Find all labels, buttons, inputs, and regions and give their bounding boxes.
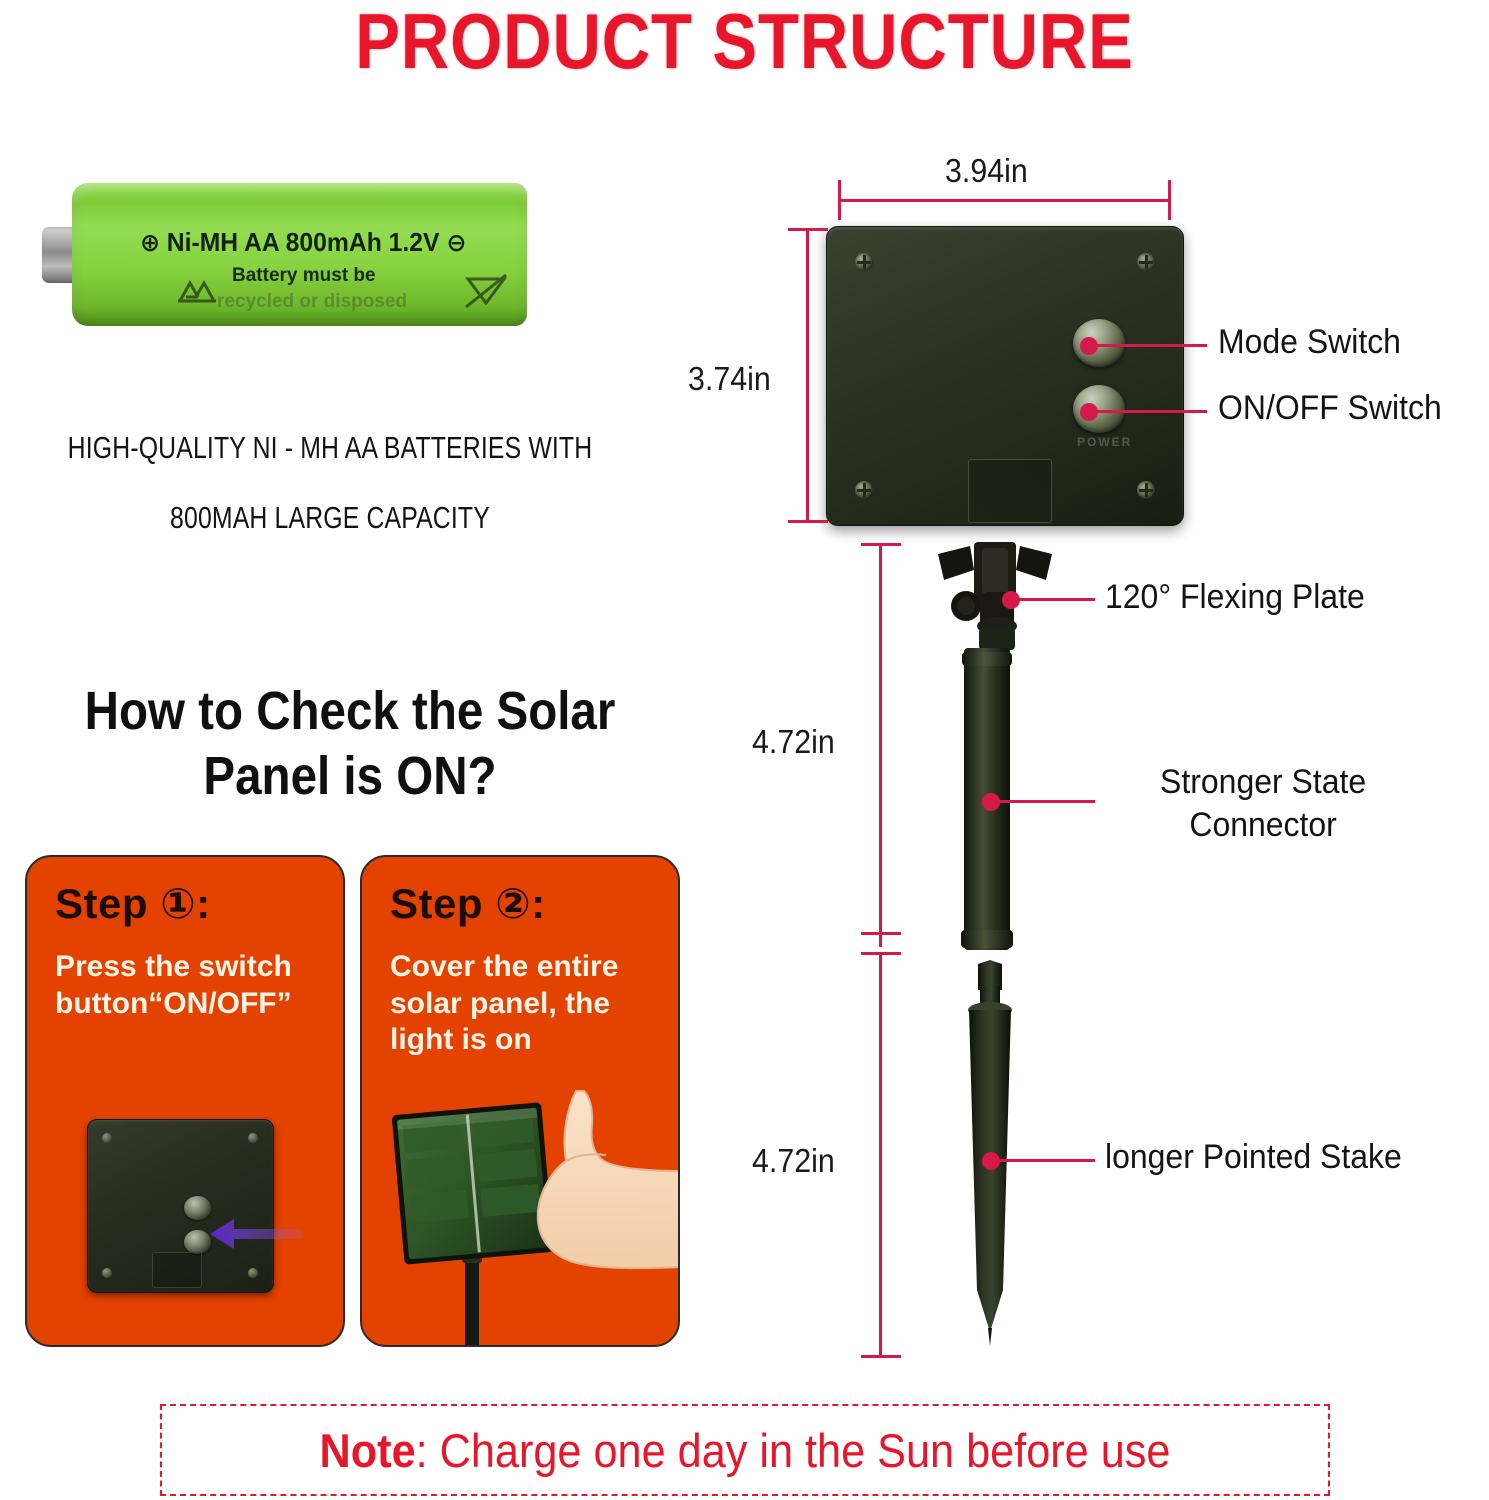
- step-1-body: Press the switch button“ON/OFF”: [55, 949, 335, 1022]
- step-2-body: Cover the entire solar panel, the light …: [390, 949, 670, 1059]
- dim-cap: [861, 543, 901, 546]
- minus-icon: ⊖: [446, 229, 466, 257]
- callout-state-connector-line-2: Connector: [1108, 805, 1418, 845]
- mini-power-button: [184, 1230, 211, 1254]
- callout-flexing-plate: 120° Flexing Plate: [1105, 577, 1365, 617]
- mini-battery-slot: [152, 1252, 202, 1288]
- screw-icon: [855, 253, 873, 271]
- dim-line-panel-width: [838, 199, 1170, 202]
- battery-recycle-line-2: recycled or disposed: [217, 291, 407, 313]
- step-2-title: Step ②:: [390, 879, 546, 928]
- mini-panel-back: [87, 1119, 274, 1293]
- power-label: POWER: [1077, 435, 1132, 449]
- dim-cap: [861, 952, 901, 955]
- step-1-title: Step ①:: [55, 879, 211, 928]
- screw-icon: [1137, 481, 1155, 499]
- dim-line-pole: [879, 543, 882, 947]
- purple-arrow-icon: [208, 1217, 303, 1251]
- battery-recycle-line-1: Battery must be: [232, 265, 376, 287]
- pole-ring-top: [962, 652, 1012, 666]
- page-title: PRODUCT STRUCTURE: [104, 0, 1385, 87]
- no-dispose-icon: [462, 271, 510, 311]
- dim-label-stake: 4.72in: [752, 1142, 835, 1180]
- battery-caption-line-1: HIGH-QUALITY NI - MH AA BATTERIES WITH: [66, 430, 594, 466]
- callout-line-flexing-plate: [1011, 598, 1095, 601]
- screw-icon: [855, 481, 873, 499]
- dim-line-stake: [879, 952, 882, 1358]
- note-body: : Charge one day in the Sun before use: [416, 1423, 1171, 1478]
- battery-caption-line-2: 800MAH LARGE CAPACITY: [66, 500, 594, 536]
- dim-cap: [861, 1355, 901, 1358]
- step-card-1: Step ①: Press the switch button“ON/OFF”: [25, 855, 345, 1347]
- callout-line-pointed-stake: [991, 1159, 1095, 1162]
- solar-panel-back-diagram: POWER: [826, 226, 1184, 526]
- pole-ring-bottom: [961, 930, 1013, 948]
- battery-spec-line: ⊕ Ni-MH AA 800mAh 1.2V ⊖: [140, 227, 501, 258]
- callout-line-mode-switch: [1089, 344, 1207, 347]
- battery-body: ⊕ Ni-MH AA 800mAh 1.2V ⊖ Battery must be…: [72, 183, 527, 326]
- screw-icon: [248, 1268, 258, 1278]
- screw-icon: [248, 1133, 258, 1143]
- dim-cap: [788, 228, 828, 231]
- screw-icon: [102, 1268, 112, 1278]
- flexing-plate-diagram: [930, 540, 1060, 650]
- dim-cap: [788, 520, 828, 523]
- screw-icon: [102, 1133, 112, 1143]
- battery-compartment: [968, 459, 1052, 523]
- dim-cap: [838, 180, 841, 220]
- dim-line-panel-height: [806, 228, 809, 523]
- dim-label-pole: 4.72in: [752, 723, 835, 761]
- callout-line-state-connector: [991, 800, 1095, 803]
- dim-label-panel-width: 3.94in: [945, 152, 1028, 190]
- recycle-icon: [172, 271, 222, 309]
- callout-state-connector-line-1: Stronger State: [1108, 762, 1418, 802]
- plus-icon: ⊕: [140, 229, 160, 257]
- note-text: Note: Charge one day in the Sun before u…: [209, 1406, 1282, 1494]
- dim-cap: [1168, 180, 1171, 220]
- dim-label-panel-height: 3.74in: [688, 360, 771, 398]
- solar-panel-back-photo: [87, 1119, 292, 1309]
- screw-icon: [1137, 253, 1155, 271]
- callout-pointed-stake: longer Pointed Stake: [1105, 1137, 1402, 1177]
- note-label: Note: [320, 1423, 416, 1478]
- hand-covering-solar-panel-photo: [380, 1085, 680, 1347]
- howto-heading-line-2: Panel is ON?: [42, 745, 658, 807]
- note-box: Note: Charge one day in the Sun before u…: [160, 1404, 1330, 1496]
- battery-spec-text: Ni-MH AA 800mAh 1.2V: [167, 227, 440, 257]
- howto-heading-line-1: How to Check the Solar: [42, 680, 658, 742]
- mini-mode-button: [184, 1196, 211, 1220]
- battery-illustration: ⊕ Ni-MH AA 800mAh 1.2V ⊖ Battery must be…: [42, 183, 532, 328]
- callout-mode-switch: Mode Switch: [1218, 322, 1401, 362]
- step-card-2: Step ②: Cover the entire solar panel, th…: [360, 855, 680, 1347]
- callout-line-on-off-switch: [1089, 410, 1207, 413]
- dim-cap: [861, 932, 901, 935]
- callout-on-off-switch: ON/OFF Switch: [1218, 388, 1442, 428]
